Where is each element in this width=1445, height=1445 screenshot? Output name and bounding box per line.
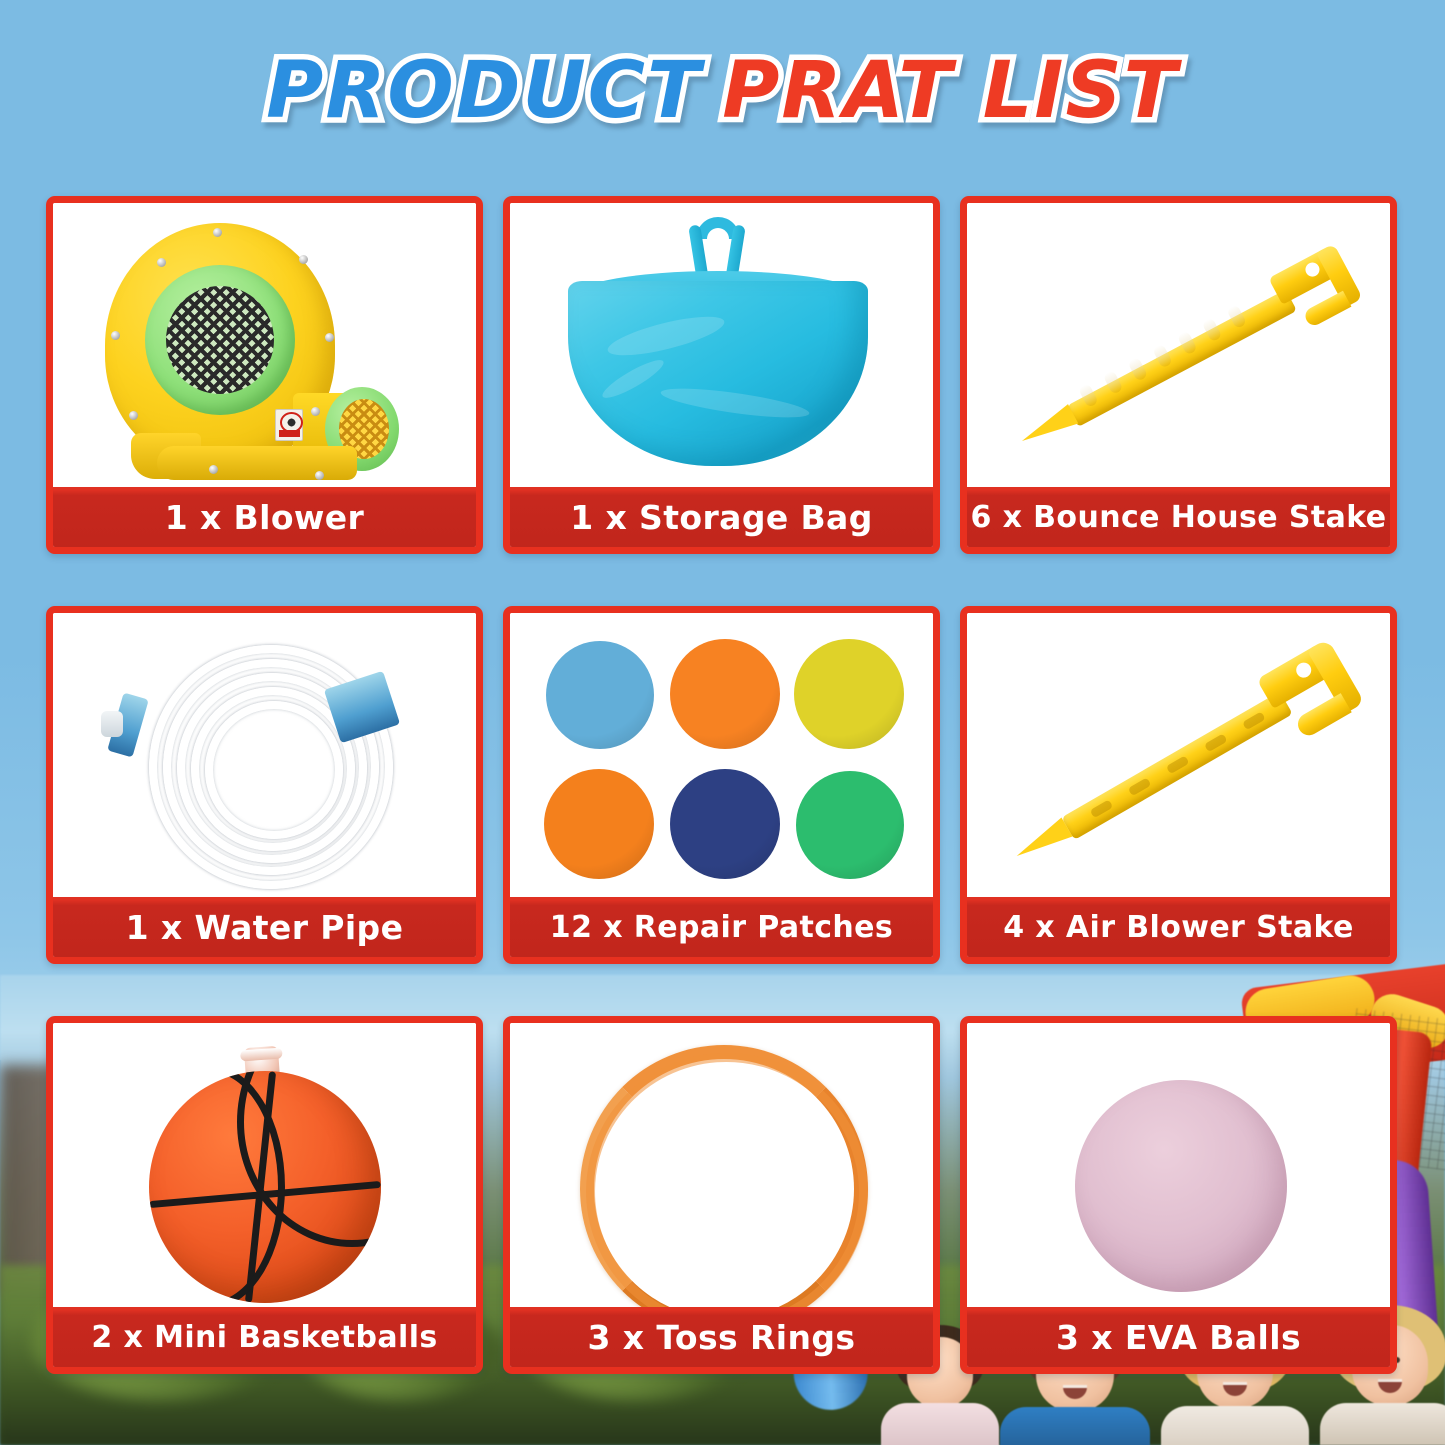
bounce-house-stake-icon xyxy=(967,203,1390,487)
mini-basketball-icon xyxy=(53,1023,476,1307)
product-image-mini-basketballs xyxy=(53,1023,476,1307)
repair-patch-2 xyxy=(670,639,780,749)
repair-patch-6 xyxy=(796,771,904,879)
product-image-blower xyxy=(53,203,476,487)
repair-patch-5 xyxy=(670,769,780,879)
product-image-water-pipe xyxy=(53,613,476,897)
product-image-eva-balls xyxy=(967,1023,1390,1307)
air-blower-stake-icon xyxy=(967,613,1390,897)
repair-patch-3 xyxy=(794,639,904,749)
product-card-mini-basketballs[interactable]: 2 x Mini Basketballs xyxy=(46,1016,483,1374)
blower-icon xyxy=(53,203,476,487)
product-card-water-pipe[interactable]: 1 x Water Pipe xyxy=(46,606,483,964)
warning-label-icon xyxy=(275,409,303,441)
repair-patch-1 xyxy=(546,641,654,749)
product-label-mini-basketballs: 2 x Mini Basketballs xyxy=(53,1307,476,1367)
repair-patch-4 xyxy=(544,769,654,879)
repair-patches-icon xyxy=(510,613,933,897)
product-list-grid: 1 x Blower 1 x Storage Bag xyxy=(46,196,1399,1374)
product-label-eva-balls: 3 x EVA Balls xyxy=(967,1307,1390,1367)
product-card-eva-balls[interactable]: 3 x EVA Balls xyxy=(960,1016,1397,1374)
storage-bag-icon xyxy=(510,203,933,487)
product-image-storage-bag xyxy=(510,203,933,487)
water-pipe-icon xyxy=(53,613,476,897)
product-label-bounce-house-stake: 6 x Bounce House Stake xyxy=(967,487,1390,547)
product-image-bounce-house-stake xyxy=(967,203,1390,487)
product-card-air-blower-stake[interactable]: 4 x Air Blower Stake xyxy=(960,606,1397,964)
product-card-toss-rings[interactable]: 3 x Toss Rings xyxy=(503,1016,940,1374)
product-label-repair-patches: 12 x Repair Patches xyxy=(510,897,933,957)
product-card-blower[interactable]: 1 x Blower xyxy=(46,196,483,554)
product-card-storage-bag[interactable]: 1 x Storage Bag xyxy=(503,196,940,554)
product-card-repair-patches[interactable]: 12 x Repair Patches xyxy=(503,606,940,964)
pipe-connector-icon xyxy=(101,711,123,737)
page-title: PRODUCTPRAT LIST xyxy=(0,52,1445,130)
eva-ball-icon xyxy=(967,1023,1390,1307)
page-title-part-product: PRODUCT xyxy=(266,52,702,130)
product-label-water-pipe: 1 x Water Pipe xyxy=(53,897,476,957)
product-label-air-blower-stake: 4 x Air Blower Stake xyxy=(967,897,1390,957)
product-label-blower: 1 x Blower xyxy=(53,487,476,547)
product-card-bounce-house-stake[interactable]: 6 x Bounce House Stake xyxy=(960,196,1397,554)
product-label-storage-bag: 1 x Storage Bag xyxy=(510,487,933,547)
page-title-part-prat-list: PRAT LIST xyxy=(722,52,1179,130)
product-image-toss-rings xyxy=(510,1023,933,1307)
toss-ring-icon xyxy=(510,1023,933,1307)
product-image-repair-patches xyxy=(510,613,933,897)
product-label-toss-rings: 3 x Toss Rings xyxy=(510,1307,933,1367)
product-image-air-blower-stake xyxy=(967,613,1390,897)
